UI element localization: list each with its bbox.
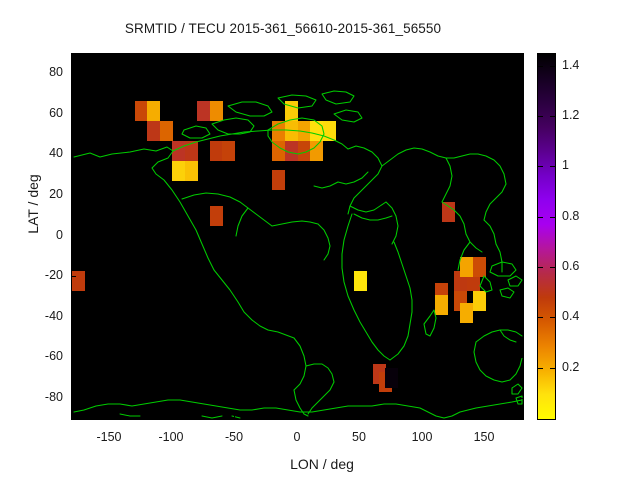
x-axis-tick-label: -150 [84,430,134,444]
colorbar-tick [550,66,555,67]
y-axis-tick [518,317,523,318]
y-axis-tick [518,398,523,399]
colorbar [537,53,556,420]
y-axis-tick-label: 20 [23,187,63,201]
y-axis-tick [71,236,76,237]
y-axis-tick [518,276,523,277]
colorbar-tick [538,267,543,268]
y-axis-tick [71,114,76,115]
x-axis-tick [171,414,172,419]
y-axis-tick [518,73,523,74]
y-axis-tick [518,357,523,358]
page-title: SRMTID / TECU 2015-361_56610-2015-361_56… [0,21,566,36]
heatmap-canvas [72,54,523,419]
x-axis-tick [422,414,423,419]
x-axis-title: LON / deg [222,456,422,472]
x-axis-tick [484,53,485,58]
y-axis-tick-label: 40 [23,146,63,160]
y-axis-tick-label: -80 [23,390,63,404]
x-axis-tick-label: 150 [459,430,509,444]
colorbar-tick [538,317,543,318]
x-axis-tick [484,414,485,419]
colorbar-tick-label: 1.4 [562,58,579,72]
colorbar-tick-label: 0.2 [562,360,579,374]
y-axis-tick [518,195,523,196]
plot-page: SRMTID / TECU 2015-361_56610-2015-361_56… [0,0,640,480]
colorbar-gradient [538,54,555,419]
x-axis-tick [297,53,298,58]
y-axis-tick-label: 80 [23,65,63,79]
x-axis-tick [109,414,110,419]
colorbar-tick [550,267,555,268]
colorbar-tick [550,116,555,117]
y-axis-tick [71,317,76,318]
y-axis-tick-label: -20 [23,268,63,282]
colorbar-tick [538,368,543,369]
x-axis-tick [234,53,235,58]
colorbar-tick [550,217,555,218]
x-axis-tick [171,53,172,58]
y-axis-tick [71,398,76,399]
coastline-overlay [72,54,523,419]
x-axis-tick [234,414,235,419]
colorbar-tick [538,166,543,167]
y-axis-tick [71,154,76,155]
y-axis-tick [71,276,76,277]
x-axis-tick [359,53,360,58]
y-axis-tick [518,236,523,237]
colorbar-tick [550,166,555,167]
coastline-paths [74,91,522,418]
x-axis-tick-label: -100 [146,430,196,444]
colorbar-tick-label: 0.4 [562,309,579,323]
y-axis-tick [71,357,76,358]
colorbar-tick [550,317,555,318]
y-axis-tick-label: -40 [23,309,63,323]
colorbar-tick-label: 0.6 [562,259,579,273]
colorbar-tick-label: 1.2 [562,108,579,122]
y-axis-tick-label: -60 [23,349,63,363]
plot-frame [71,53,524,420]
y-axis-tick [71,195,76,196]
colorbar-tick [550,368,555,369]
x-axis-tick [109,53,110,58]
colorbar-tick [538,217,543,218]
y-axis-tick-label: 60 [23,106,63,120]
colorbar-tick [538,116,543,117]
x-axis-tick-label: -50 [209,430,259,444]
x-axis-tick [359,414,360,419]
x-axis-tick-label: 100 [397,430,447,444]
colorbar-tick-label: 0.8 [562,209,579,223]
colorbar-tick-label: 1 [562,158,569,172]
x-axis-tick-label: 0 [272,430,322,444]
x-axis-tick [297,414,298,419]
y-axis-tick-label: 0 [23,228,63,242]
y-axis-tick [518,154,523,155]
x-axis-tick [422,53,423,58]
x-axis-tick-label: 50 [334,430,384,444]
y-axis-tick [518,114,523,115]
y-axis-tick [71,73,76,74]
colorbar-tick [538,66,543,67]
